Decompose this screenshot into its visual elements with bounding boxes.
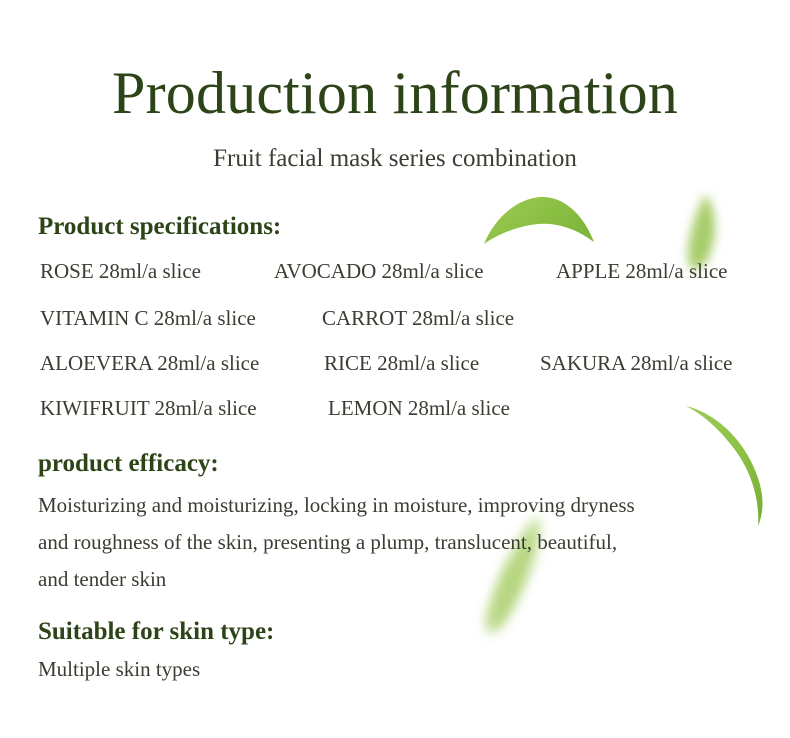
efficacy-description: Moisturizing and moisturizing, locking i… (38, 487, 750, 598)
specification-row: VITAMIN C 28ml/a slice CARROT 28ml/a sli… (0, 306, 790, 330)
section-heading-skin-type: Suitable for skin type: (38, 617, 274, 647)
specification-row: ROSE 28ml/a slice AVOCADO 28ml/a slice A… (0, 259, 790, 283)
skin-type-value: Multiple skin types (38, 655, 200, 683)
spec-item-aloevera: ALOEVERA 28ml/a slice (40, 351, 259, 375)
leaf-arc-top-center-icon (482, 194, 596, 252)
efficacy-line: and roughness of the skin, presenting a … (38, 524, 750, 561)
section-heading-efficacy: product efficacy: (38, 449, 219, 479)
efficacy-line: and tender skin (38, 561, 750, 598)
spec-item-sakura: SAKURA 28ml/a slice (540, 351, 733, 375)
page-title: Production information (0, 62, 790, 125)
spec-item-vitamin-c: VITAMIN C 28ml/a slice (40, 306, 256, 330)
spec-item-rose: ROSE 28ml/a slice (40, 259, 201, 283)
spec-item-carrot: CARROT 28ml/a slice (322, 306, 514, 330)
spec-item-rice: RICE 28ml/a slice (324, 351, 479, 375)
page-subtitle: Fruit facial mask series combination (0, 144, 790, 174)
specification-row: ALOEVERA 28ml/a slice RICE 28ml/a slice … (0, 351, 790, 375)
section-heading-specifications: Product specifications: (38, 212, 281, 242)
spec-item-kiwifruit: KIWIFRUIT 28ml/a slice (40, 396, 257, 420)
spec-item-lemon: LEMON 28ml/a slice (328, 396, 510, 420)
product-information-page: Production information Fruit facial mask… (0, 0, 790, 738)
efficacy-line: Moisturizing and moisturizing, locking i… (38, 487, 750, 524)
spec-item-apple: APPLE 28ml/a slice (556, 259, 728, 283)
specification-row: KIWIFRUIT 28ml/a slice LEMON 28ml/a slic… (0, 396, 790, 420)
spec-item-avocado: AVOCADO 28ml/a slice (274, 259, 484, 283)
